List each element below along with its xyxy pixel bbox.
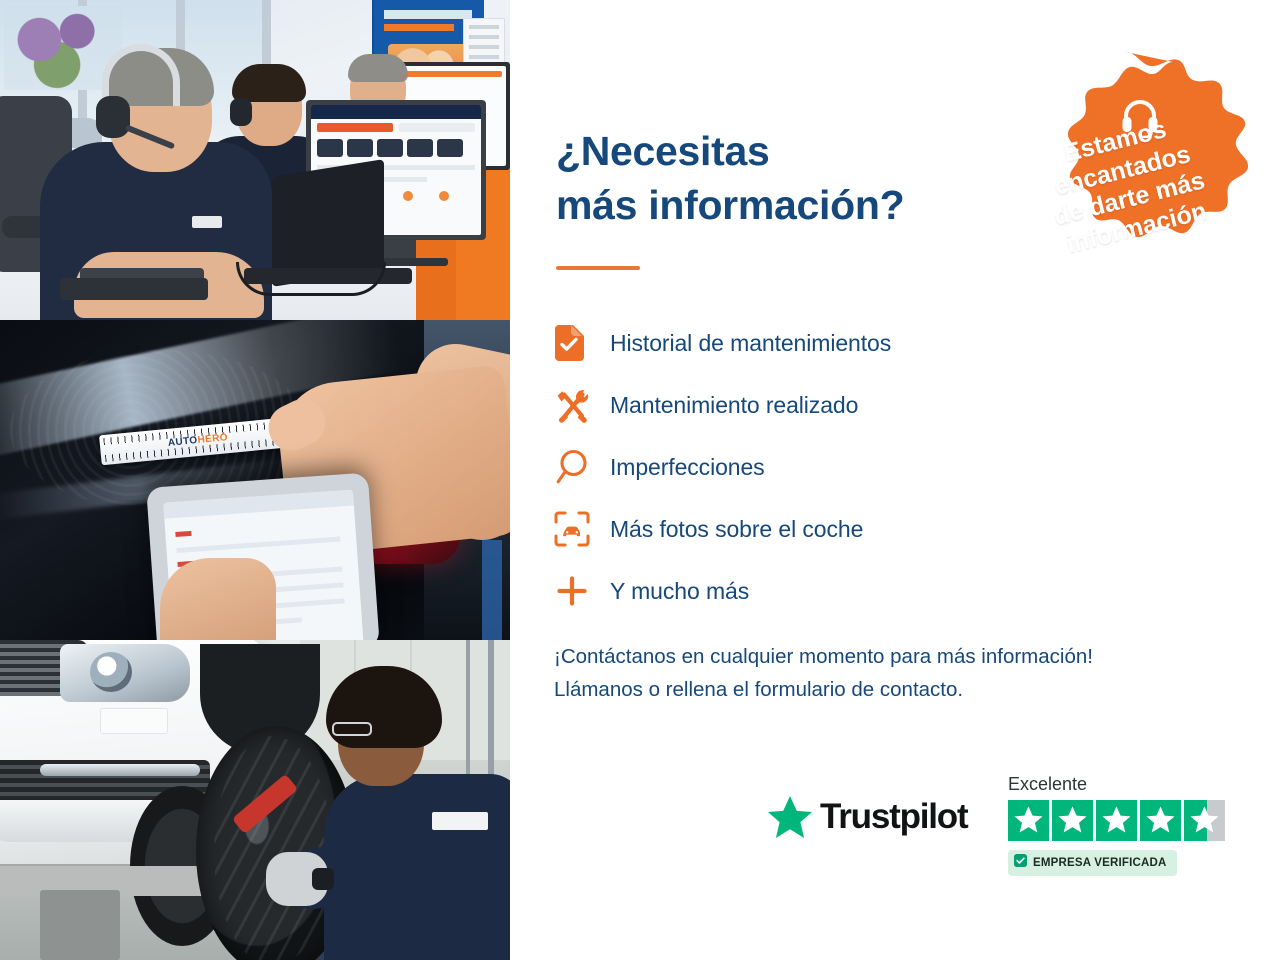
page-title-line2: más información? <box>556 182 904 228</box>
feature-item-fotos[interactable]: Más fotos sobre el coche <box>554 498 1024 560</box>
feature-item-imperfecciones[interactable]: Imperfecciones <box>554 436 1024 498</box>
page-title-line1: ¿Necesitas <box>556 128 770 174</box>
poster-title-bar <box>384 10 472 19</box>
wrench-screwdriver-icon <box>554 386 610 424</box>
trustpilot-block[interactable]: Trustpilot Excelente <box>768 770 1188 882</box>
feature-label: Mantenimiento realizado <box>610 392 858 419</box>
verified-label: EMPRESA VERIFICADA <box>1033 857 1167 869</box>
contact-line-2: Llámanos o rellena el formulario de cont… <box>554 673 1234 706</box>
contact-line-1: ¡Contáctanos en cualquier momento para m… <box>554 640 1234 673</box>
feature-label: Más fotos sobre el coche <box>610 516 863 543</box>
star-partial <box>1184 800 1225 841</box>
desk-tablet <box>60 278 208 300</box>
background-strip <box>482 540 502 640</box>
feature-label: Y mucho más <box>610 578 749 605</box>
page-title: ¿Necesitas más información? <box>556 124 904 232</box>
trustpilot-logo[interactable]: Trustpilot <box>768 796 967 838</box>
car-lift-post <box>40 890 120 960</box>
document-check-icon <box>554 325 610 361</box>
trustpilot-star-icon <box>768 796 812 838</box>
promo-page: AUTOHERO <box>0 0 1280 960</box>
feature-label: Imperfecciones <box>610 454 765 481</box>
feature-item-mas[interactable]: Y mucho más <box>554 560 1024 622</box>
cable <box>236 262 386 296</box>
support-badge: Estamos encantados de darte más informac… <box>990 48 1262 318</box>
verified-check-icon <box>1014 854 1027 872</box>
chrome-trim <box>40 764 200 776</box>
call-center-agents-photo <box>0 0 510 320</box>
car-headlight <box>60 644 190 702</box>
star-filled <box>1052 800 1093 841</box>
feature-label: Historial de mantenimientos <box>610 330 891 357</box>
workshop-tire-photo <box>0 640 510 960</box>
photo-collage: AUTOHERO <box>0 0 510 960</box>
feature-item-historial[interactable]: Historial de mantenimientos <box>554 312 1024 374</box>
star-filled <box>1140 800 1181 841</box>
rating-label: Excelente <box>1008 774 1087 795</box>
plus-icon <box>554 573 610 609</box>
feature-list: Historial de mantenimientos M <box>554 312 1024 622</box>
poster-subtitle-bar <box>384 24 454 31</box>
star-filled <box>1008 800 1049 841</box>
verified-badge: EMPRESA VERIFICADA <box>1008 850 1177 876</box>
star-rating <box>1008 800 1225 841</box>
car-frame-icon <box>554 511 610 547</box>
title-divider <box>556 266 640 270</box>
star-filled <box>1096 800 1137 841</box>
license-plate <box>100 708 168 734</box>
car-inspection-ruler-photo: AUTOHERO <box>0 320 510 640</box>
magnifier-icon <box>554 448 610 486</box>
info-panel: ¿Necesitas más información? Historial de… <box>510 0 1280 960</box>
contact-text: ¡Contáctanos en cualquier momento para m… <box>554 640 1234 706</box>
trustpilot-wordmark: Trustpilot <box>820 797 967 837</box>
workshop-mechanic <box>316 664 510 960</box>
inspector-hand-holding-tablet <box>160 558 276 640</box>
feature-item-mantenimiento[interactable]: Mantenimiento realizado <box>554 374 1024 436</box>
